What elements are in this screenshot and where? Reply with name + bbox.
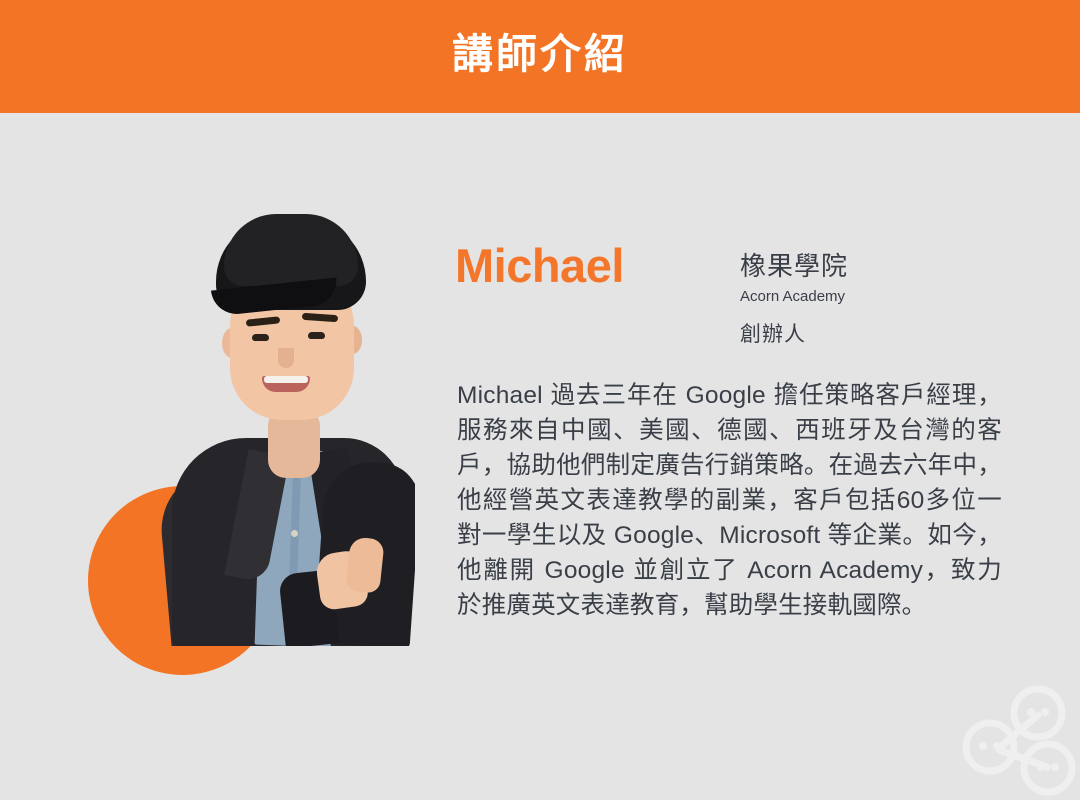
share-network-icon — [952, 682, 1080, 800]
hand-right — [345, 536, 384, 593]
organization-name-en: Acorn Academy — [740, 285, 1000, 309]
instructor-role: 創辦人 — [740, 321, 1000, 348]
instructor-photo — [150, 200, 415, 646]
eye-left — [252, 334, 269, 341]
nose — [278, 348, 294, 368]
organization-block: 橡果學院 Acorn Academy 創辦人 — [740, 250, 1000, 348]
portrait-figure — [150, 200, 415, 646]
instructor-name: Michael — [455, 238, 624, 294]
teeth — [264, 376, 308, 383]
instructor-intro-slide: 講師介紹 — [0, 0, 1080, 800]
organization-name-zh: 橡果學院 — [740, 250, 1000, 284]
flat-cap-crown — [224, 214, 358, 286]
page-title: 講師介紹 — [0, 0, 1080, 113]
shirt-button — [291, 530, 298, 537]
instructor-bio: Michael 過去三年在 Google 擔任策略客戶經理，服務來自中國、美國、… — [457, 378, 1002, 623]
eye-right — [308, 332, 325, 339]
